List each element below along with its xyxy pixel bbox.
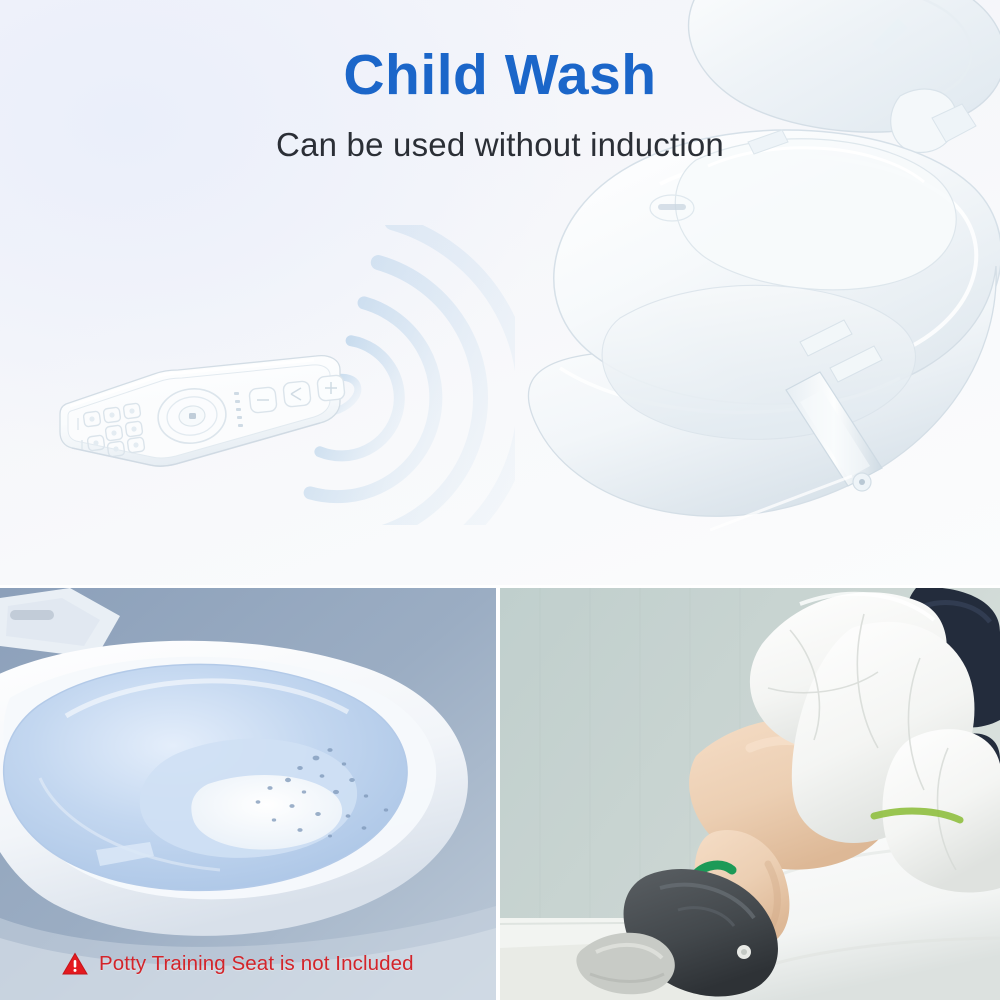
potty-training-seat-photo: Potty Training Seat is not Included xyxy=(0,588,496,1000)
page-title: Child Wash xyxy=(0,42,1000,108)
product-feature-image: Potty Training Seat is not Included xyxy=(0,0,1000,1000)
bidet-remote-control[interactable] xyxy=(58,352,348,497)
page-subtitle: Can be used without induction xyxy=(0,126,1000,164)
potty-training-seat xyxy=(4,664,407,890)
warning-notice: Potty Training Seat is not Included xyxy=(62,952,414,976)
child-on-toilet-photo xyxy=(500,588,1000,1000)
warning-text: Potty Training Seat is not Included xyxy=(99,952,414,976)
warning-triangle-icon xyxy=(62,952,88,976)
